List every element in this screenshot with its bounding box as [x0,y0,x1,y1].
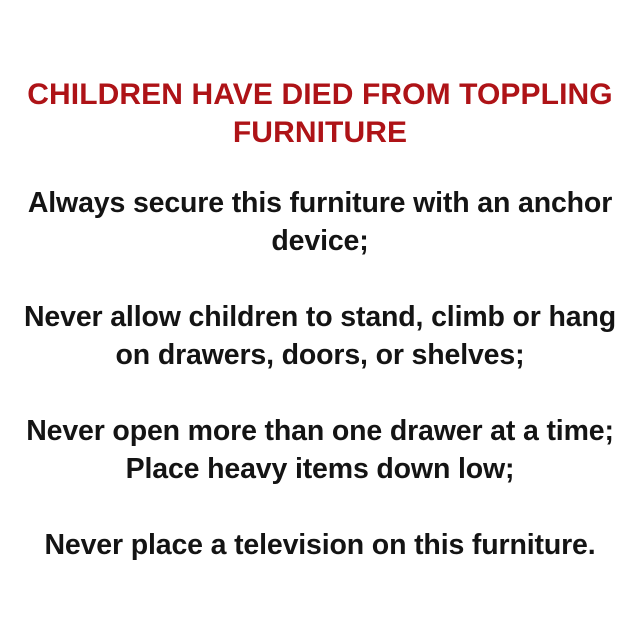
instruction-no-climbing: Never allow children to stand, climb or … [10,298,630,374]
instruction-spacer [10,374,630,412]
instruction-one-drawer-heavy-items: Never open more than one drawer at a tim… [10,412,630,488]
warning-heading: CHILDREN HAVE DIED FROM TOPPLING FURNITU… [6,76,634,152]
instruction-no-television: Never place a television on this furnitu… [10,526,630,564]
instruction-anchor-device: Always secure this furniture with an anc… [10,184,630,260]
instruction-spacer [10,260,630,298]
safety-instructions-list: Always secure this furniture with an anc… [6,184,634,564]
instruction-spacer [10,488,630,526]
furniture-safety-label: CHILDREN HAVE DIED FROM TOPPLING FURNITU… [0,0,640,640]
